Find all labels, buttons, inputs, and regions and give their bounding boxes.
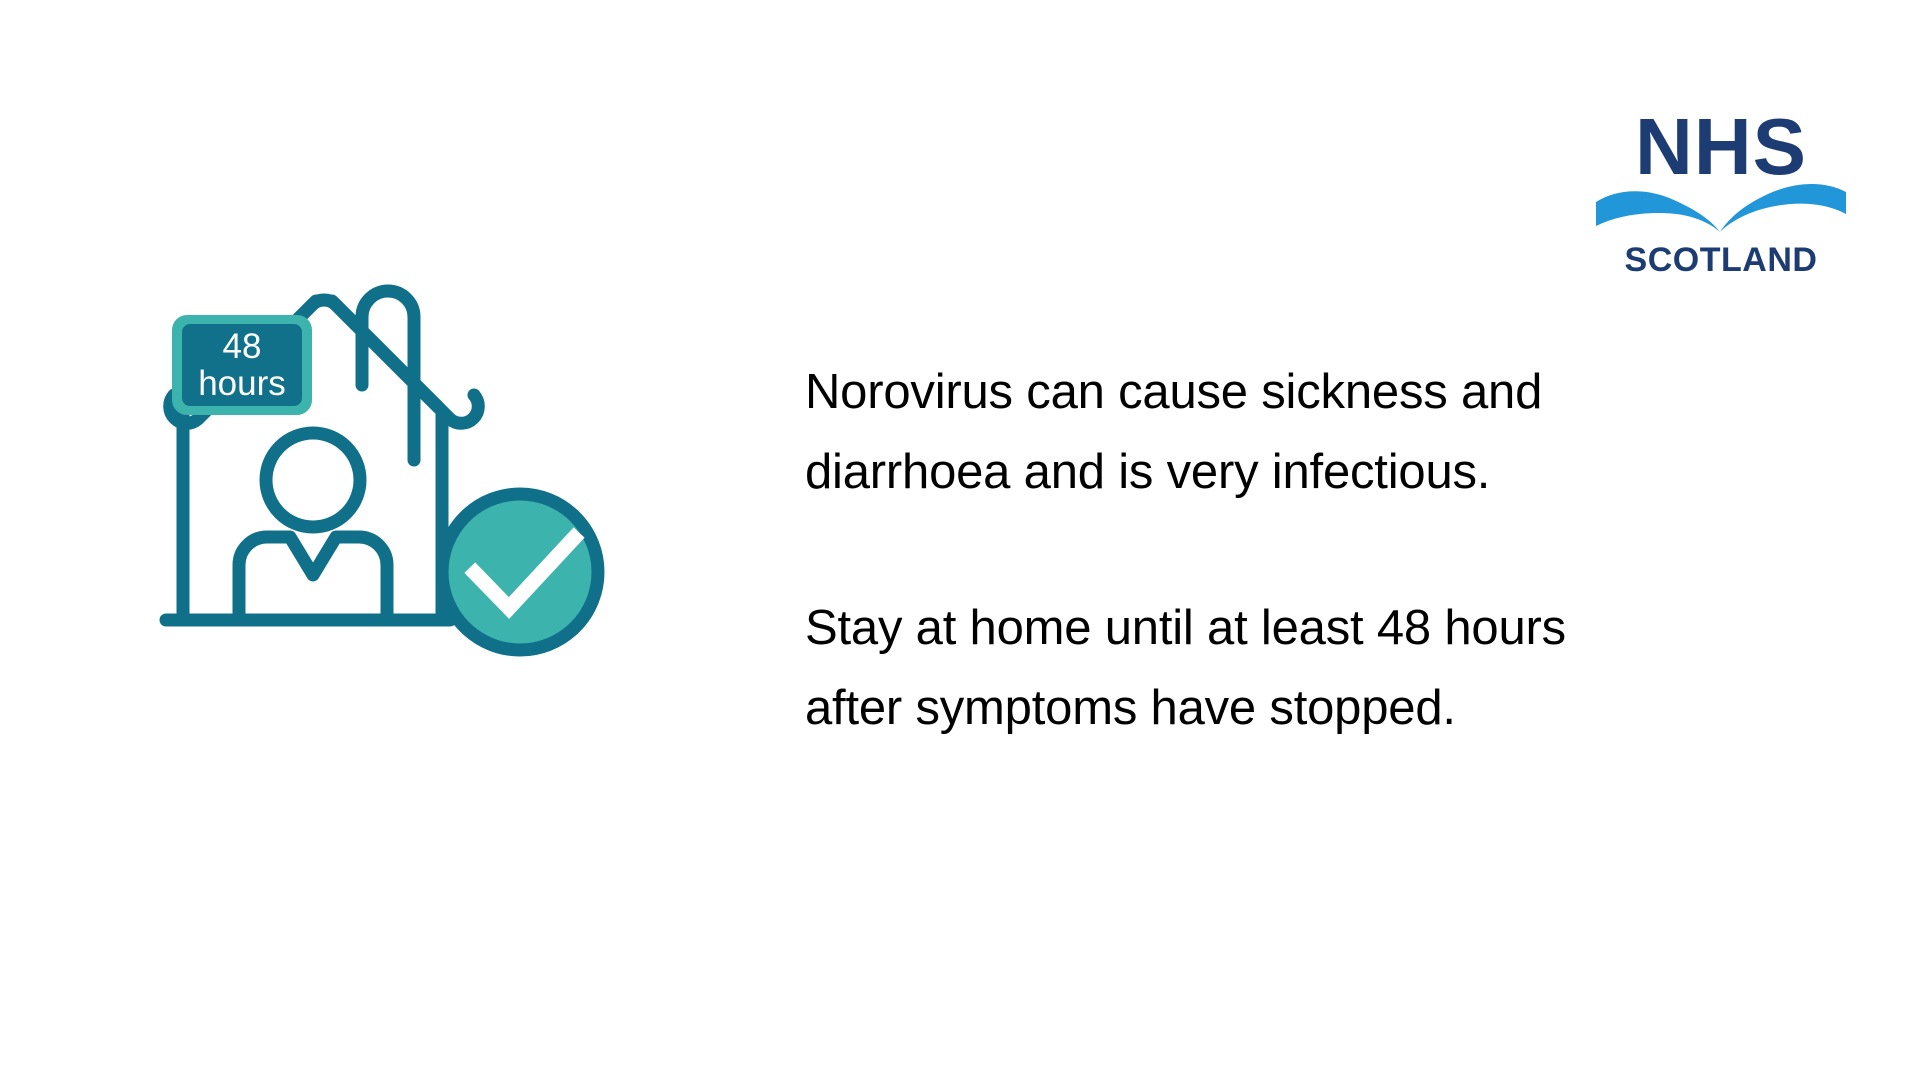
person-body-icon xyxy=(239,537,387,620)
message-block: Norovirus can cause sickness and diarrho… xyxy=(805,352,1705,748)
scotland-wordmark: SCOTLAND xyxy=(1625,241,1818,279)
roof-inner-right xyxy=(332,301,438,407)
48-hours-sign: 48 hours xyxy=(172,315,312,415)
message-paragraph-1: Norovirus can cause sickness and diarrho… xyxy=(805,352,1705,512)
nhs-wordmark: NHS xyxy=(1635,102,1807,191)
check-circle-badge xyxy=(442,494,598,650)
nhs-scotland-logo: NHS SCOTLAND xyxy=(1596,96,1846,286)
person-head-icon xyxy=(266,433,360,527)
nhs-wave-icon xyxy=(1596,184,1846,232)
sign-line-2: hours xyxy=(198,364,286,403)
stay-at-home-illustration: 48 hours xyxy=(150,275,660,695)
poster-canvas: NHS SCOTLAND xyxy=(0,0,1920,1080)
message-paragraph-2: Stay at home until at least 48 hours aft… xyxy=(805,588,1705,748)
sign-line-1: 48 xyxy=(223,327,262,366)
